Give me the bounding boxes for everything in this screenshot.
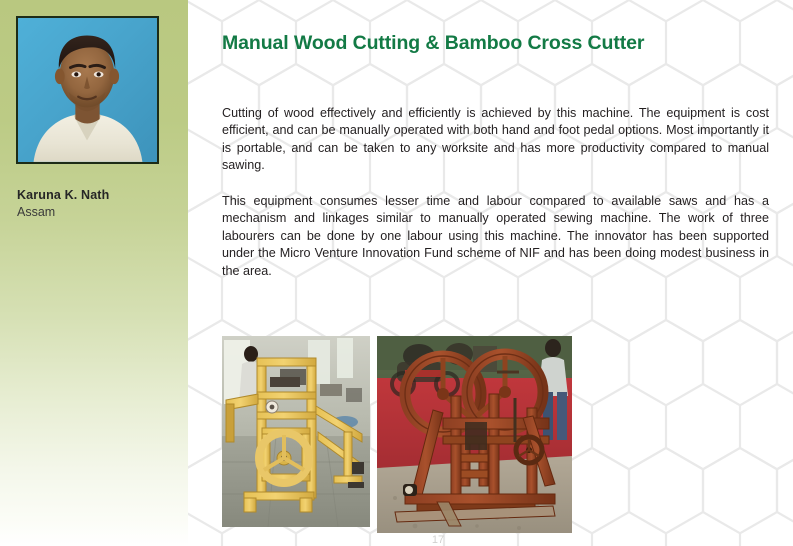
- avatar: [18, 18, 157, 162]
- innovator-portrait-frame: [16, 16, 159, 164]
- innovator-sidebar: Karuna K. Nath Assam: [0, 0, 188, 546]
- innovator-region: Assam: [17, 205, 55, 219]
- photo-wood-cutter-brown: [377, 336, 572, 533]
- page-title: Manual Wood Cutting & Bamboo Cross Cutte…: [222, 32, 767, 55]
- main-content: Manual Wood Cutting & Bamboo Cross Cutte…: [188, 0, 793, 546]
- photo-wood-cutter-yellow: [222, 336, 370, 527]
- innovator-name: Karuna K. Nath: [17, 188, 109, 202]
- description-paragraph-1: Cutting of wood effectively and efficien…: [222, 105, 769, 175]
- page-number: 17: [408, 534, 468, 545]
- document-page: Karuna K. Nath Assam Manual Wood Cutting…: [0, 0, 793, 546]
- description-paragraph-2: This equipment consumes lesser time and …: [222, 193, 769, 281]
